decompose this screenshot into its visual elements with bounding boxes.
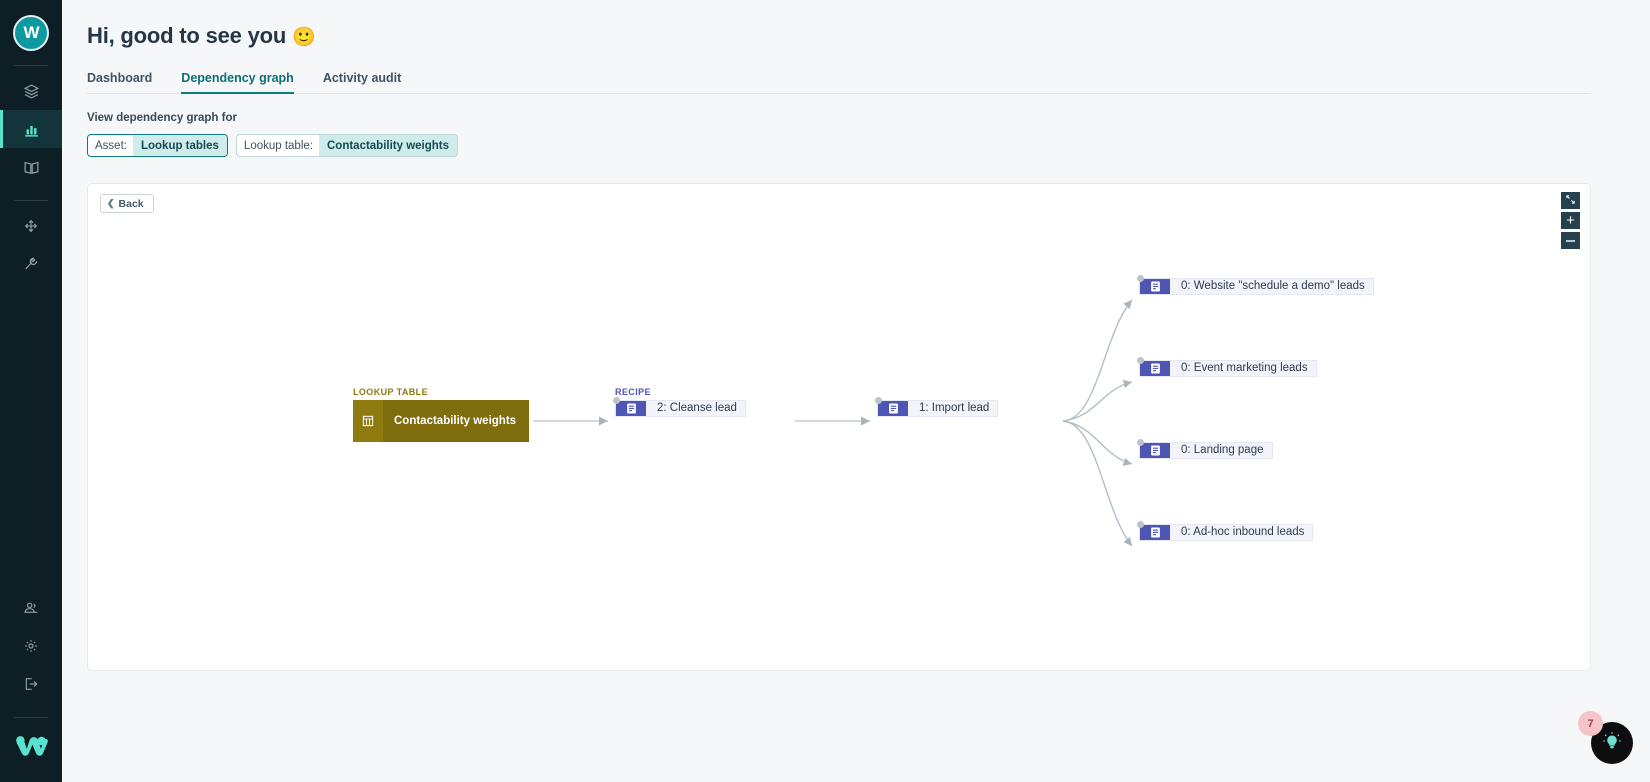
recipe-doc-icon <box>1140 525 1170 540</box>
graph-node-recipe-event-marketing-leads[interactable]: 0: Event marketing leads <box>1139 360 1317 377</box>
gear-icon <box>23 638 39 654</box>
node-handle-dot[interactable] <box>1137 439 1144 446</box>
graph-edges <box>88 184 1590 670</box>
graph-node-label: 0: Website "schedule a demo" leads <box>1170 279 1373 294</box>
graph-node-label: 1: Import lead <box>908 401 997 416</box>
page-title: Hi, good to see you 🙂 <box>87 23 1650 49</box>
filter-chip-asset[interactable]: Asset: Lookup tables <box>87 134 228 157</box>
recipe-doc-icon <box>616 401 646 416</box>
help-widget: 7 <box>1573 704 1633 764</box>
logout-icon <box>23 676 39 692</box>
back-button[interactable]: ❮ Back <box>100 194 154 213</box>
filter-chip-asset-value: Lookup tables <box>133 135 227 156</box>
filter-chip-asset-key: Asset: <box>88 140 133 152</box>
fit-to-screen-button[interactable] <box>1561 192 1580 209</box>
move-arrows-icon <box>23 218 39 234</box>
brand-logo-letter: W <box>23 23 38 43</box>
recipe-doc-icon <box>878 401 908 416</box>
graph-node-recipe-adhoc-inbound-leads[interactable]: 0: Ad-hoc inbound leads <box>1139 524 1313 541</box>
graph-node-recipe-website-demo-leads[interactable]: 0: Website "schedule a demo" leads <box>1139 278 1374 295</box>
sidebar-item-settings[interactable] <box>0 627 62 665</box>
edge-import-to-landing <box>1063 421 1132 464</box>
graph-node-recipe-cleanse-lead[interactable]: 2: Cleanse lead <box>615 400 746 417</box>
node-handle-dot[interactable] <box>875 397 882 404</box>
chevron-left-icon: ❮ <box>107 198 115 209</box>
graph-node-recipe-landing-page[interactable]: 0: Landing page <box>1139 442 1273 459</box>
sidebar-item-logout[interactable] <box>0 665 62 703</box>
filter-chip-lookup-table[interactable]: Lookup table: Contactability weights <box>236 134 458 157</box>
node-category-lookup-table: LOOKUP TABLE <box>353 387 428 397</box>
edge-import-to-event <box>1063 382 1132 421</box>
lightbulb-icon <box>1601 730 1623 757</box>
graph-node-label: 2: Cleanse lead <box>646 401 745 416</box>
page-title-text: Hi, good to see you <box>87 23 286 48</box>
recipe-doc-icon <box>1140 361 1170 376</box>
sidebar-item-docs[interactable] <box>0 148 62 186</box>
plus-icon: + <box>1566 213 1575 228</box>
users-icon <box>23 600 39 616</box>
node-category-recipe: RECIPE <box>615 387 651 397</box>
sidebar-item-analytics[interactable] <box>0 110 62 148</box>
sidebar-divider-bottom <box>14 717 48 718</box>
graph-canvas[interactable]: LOOKUP TABLE RECIPE Contactability weigh… <box>88 184 1590 670</box>
graph-node-label: 0: Ad-hoc inbound leads <box>1170 525 1312 540</box>
bar-chart-icon <box>23 121 40 138</box>
left-sidebar: W <box>0 0 62 782</box>
w-logo <box>14 734 48 758</box>
zoom-in-button[interactable]: + <box>1561 212 1580 229</box>
node-handle-dot[interactable] <box>1137 521 1144 528</box>
tab-dashboard[interactable]: Dashboard <box>87 71 152 93</box>
book-icon <box>23 159 40 176</box>
resize-diagonal-icon <box>1565 192 1576 210</box>
graph-node-recipe-import-lead[interactable]: 1: Import lead <box>877 400 998 417</box>
minus-icon <box>1566 240 1575 242</box>
filter-chip-lookup-table-value: Contactability weights <box>319 135 457 156</box>
filter-chip-lookup-table-key: Lookup table: <box>237 140 319 152</box>
tab-dependency-graph[interactable]: Dependency graph <box>181 71 294 93</box>
smiley-face-icon: 🙂 <box>292 27 315 48</box>
sidebar-item-tools[interactable] <box>0 245 62 283</box>
help-widget-badge[interactable]: 7 <box>1578 711 1603 736</box>
graph-node-label: Contactability weights <box>383 400 529 442</box>
recipe-doc-icon <box>1140 279 1170 294</box>
sidebar-divider-mid <box>14 200 48 201</box>
graph-node-label: 0: Event marketing leads <box>1170 361 1316 376</box>
zoom-controls: + <box>1561 192 1580 249</box>
sidebar-item-integrations[interactable] <box>0 207 62 245</box>
graph-node-label: 0: Landing page <box>1170 443 1272 458</box>
filter-section-label: View dependency graph for <box>87 112 1650 124</box>
layers-icon <box>23 83 40 100</box>
app-root: W <box>0 0 1650 782</box>
zoom-out-button[interactable] <box>1561 232 1580 249</box>
graph-node-lookup-contactability-weights[interactable]: Contactability weights <box>353 400 529 442</box>
sidebar-item-data-assets[interactable] <box>0 72 62 110</box>
back-button-label: Back <box>119 198 144 210</box>
sidebar-divider-top <box>14 65 48 66</box>
brand-logo[interactable]: W <box>13 15 49 51</box>
node-handle-dot[interactable] <box>1137 275 1144 282</box>
recipe-doc-icon <box>1140 443 1170 458</box>
tab-bar: Dashboard Dependency graph Activity audi… <box>87 67 1591 94</box>
tab-activity-audit[interactable]: Activity audit <box>323 71 402 93</box>
dependency-graph-panel: ❮ Back + <box>87 183 1591 671</box>
sidebar-item-users[interactable] <box>0 589 62 627</box>
table-grid-icon <box>353 400 383 442</box>
node-handle-dot[interactable] <box>1137 357 1144 364</box>
filter-chips: Asset: Lookup tables Lookup table: Conta… <box>87 134 1650 157</box>
wrench-icon <box>23 256 39 272</box>
node-handle-dot[interactable] <box>613 397 620 404</box>
main-content: Hi, good to see you 🙂 Dashboard Dependen… <box>62 0 1650 782</box>
